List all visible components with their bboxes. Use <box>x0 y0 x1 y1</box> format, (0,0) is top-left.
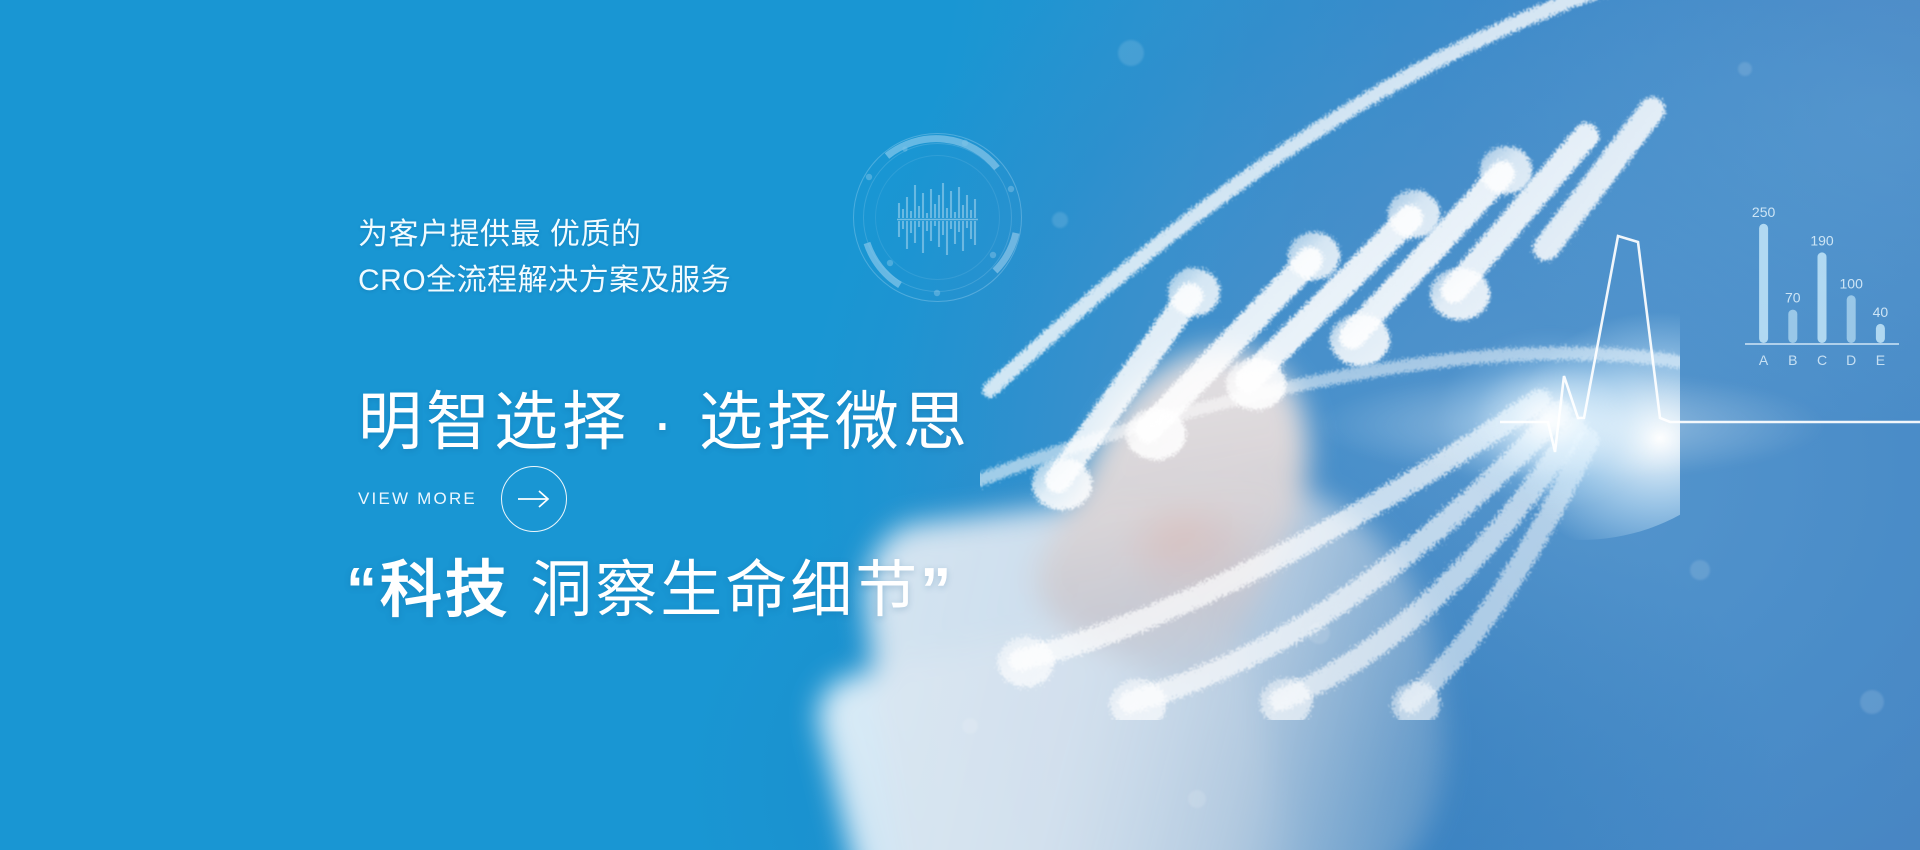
quote-close-mark: ” <box>920 556 954 625</box>
chart-category-label: A <box>1759 352 1769 368</box>
quote-emphasis: 科技 <box>380 556 510 625</box>
chart-bar <box>1818 252 1827 343</box>
chart-value-label: 40 <box>1873 304 1889 320</box>
chart-bar <box>1876 324 1885 343</box>
hero-copy: 为客户提供最 优质的 CRO全流程解决方案及服务 明智选择 · 选择微思 VIE… <box>358 0 1258 850</box>
chart-bar <box>1847 295 1856 343</box>
page-title: 明智选择 · 选择微思 <box>358 383 971 461</box>
chart-bar <box>1759 224 1768 343</box>
quote-body: 洞察生命细节 <box>510 556 920 625</box>
chart-value-label: 70 <box>1785 290 1801 306</box>
chart-category-label: E <box>1876 352 1885 368</box>
chart-bar <box>1788 310 1797 343</box>
arrow-right-icon[interactable] <box>501 466 567 532</box>
hero-quote: “科技 洞察生命细节” <box>346 550 954 632</box>
bokeh-dot <box>1738 62 1752 76</box>
bokeh-dot <box>1690 560 1710 580</box>
view-more-label: VIEW MORE <box>358 489 477 509</box>
chart-value-label: 100 <box>1840 275 1864 291</box>
bar-chart-overlay: 250A70B190C100D40E <box>1735 185 1905 385</box>
hero-banner: 250A70B190C100D40E 为客户提供最 优质的 CRO全流程解决方案… <box>0 0 1920 850</box>
hero-subtitle: 为客户提供最 优质的 CRO全流程解决方案及服务 <box>358 212 731 304</box>
view-more-button[interactable]: VIEW MORE <box>358 466 567 532</box>
chart-value-label: 250 <box>1752 204 1776 220</box>
chart-value-label: 190 <box>1810 232 1834 248</box>
bokeh-dot <box>1308 622 1330 644</box>
chart-category-label: D <box>1846 352 1856 368</box>
chart-category-label: C <box>1817 352 1827 368</box>
quote-open-mark: “ <box>346 556 380 625</box>
chart-category-label: B <box>1788 352 1797 368</box>
bokeh-dot <box>1860 690 1884 714</box>
